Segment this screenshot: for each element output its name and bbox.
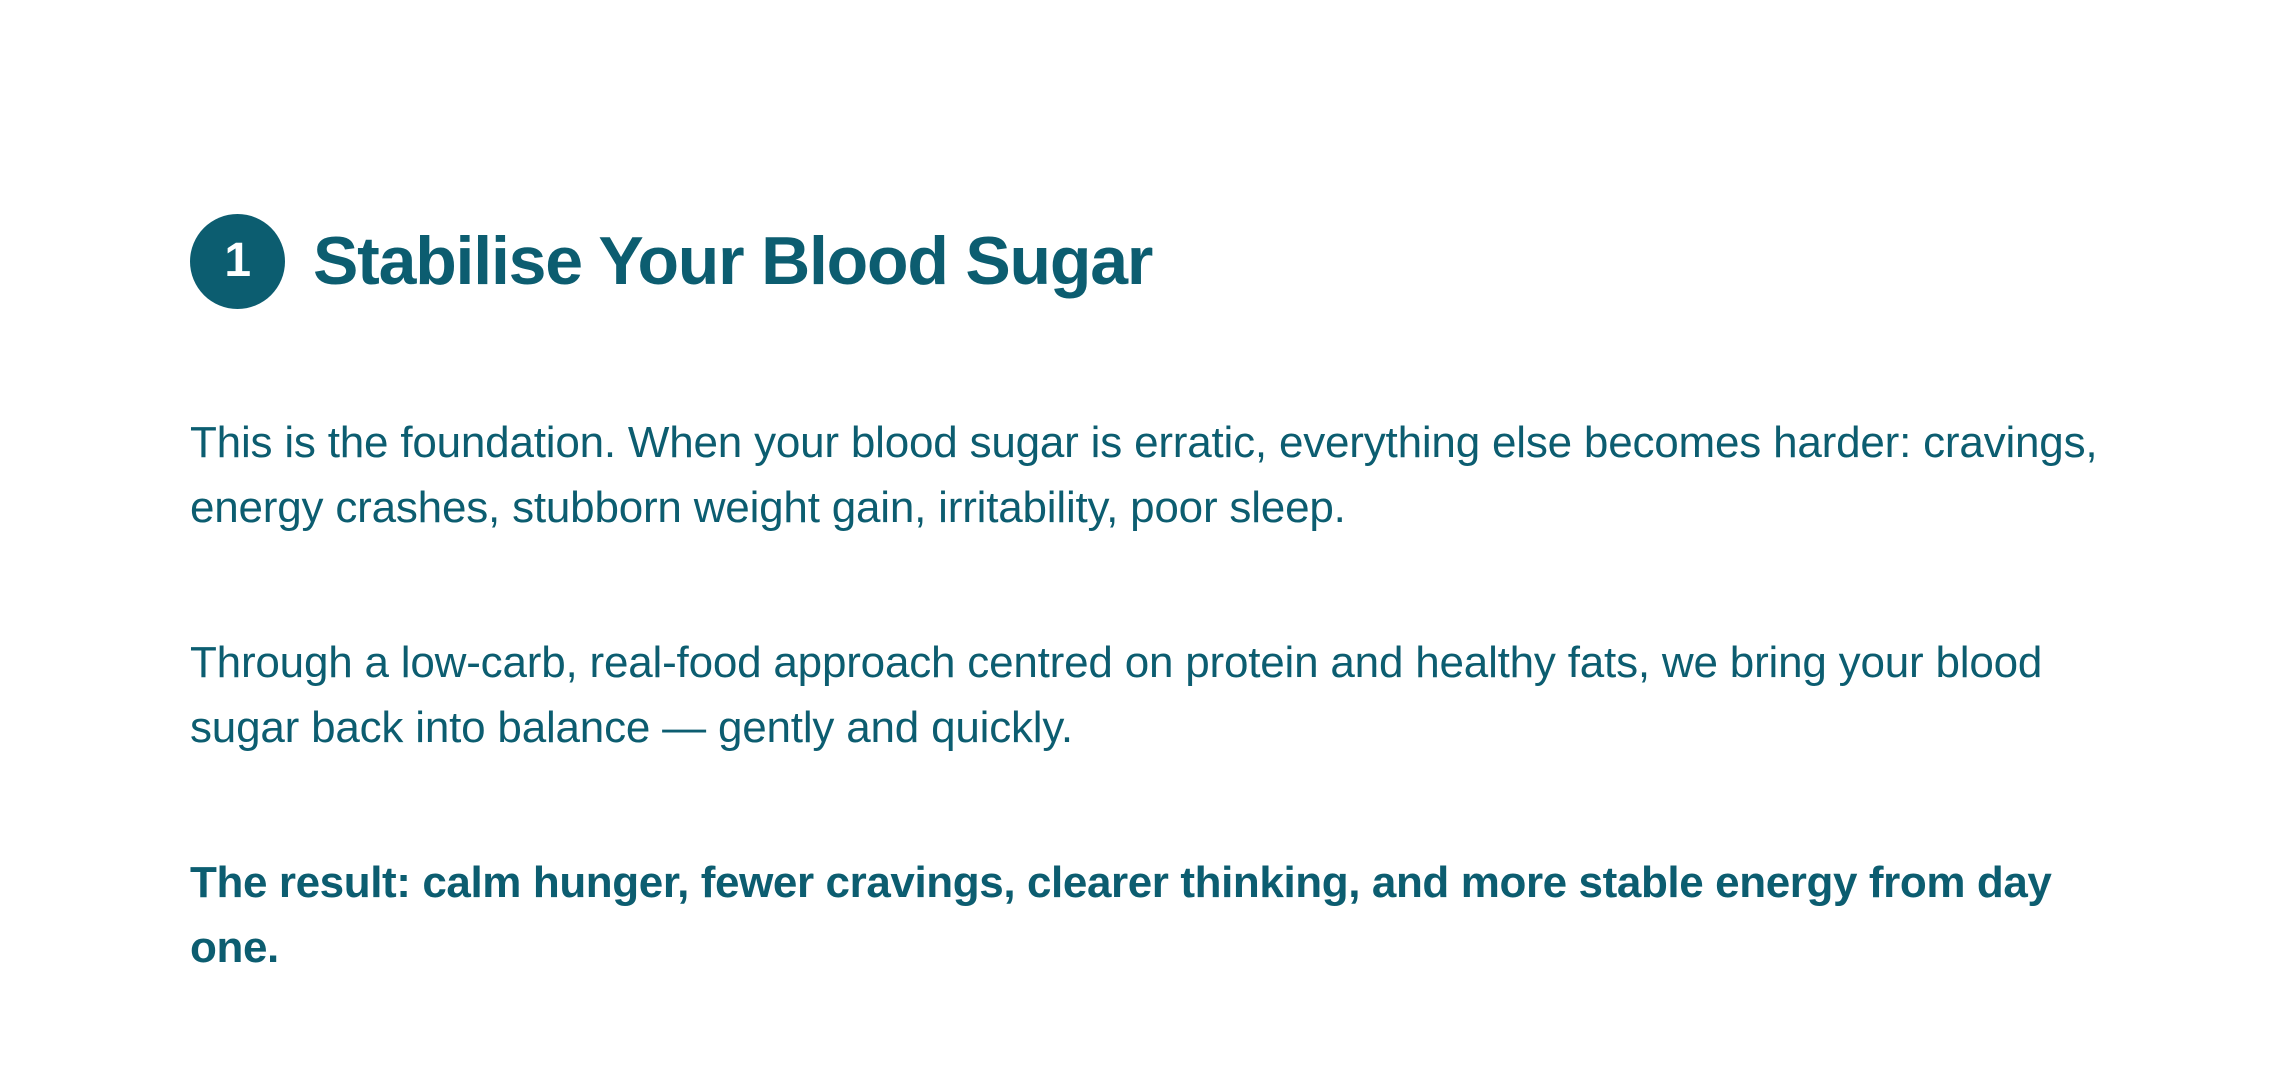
step-number-badge: 1	[190, 214, 285, 309]
paragraph-result: The result: calm hunger, fewer cravings,…	[190, 850, 2105, 980]
page-title: Stabilise Your Blood Sugar	[313, 226, 1152, 297]
paragraph-approach: Through a low-carb, real-food approach c…	[190, 630, 2105, 760]
step-number-label: 1	[224, 237, 250, 285]
section-heading-row: 1 Stabilise Your Blood Sugar	[190, 180, 2105, 342]
slide-root: 1 Stabilise Your Blood Sugar This is the…	[0, 0, 2295, 1080]
paragraph-foundation: This is the foundation. When your blood …	[190, 410, 2105, 540]
body-content: This is the foundation. When your blood …	[190, 410, 2105, 980]
